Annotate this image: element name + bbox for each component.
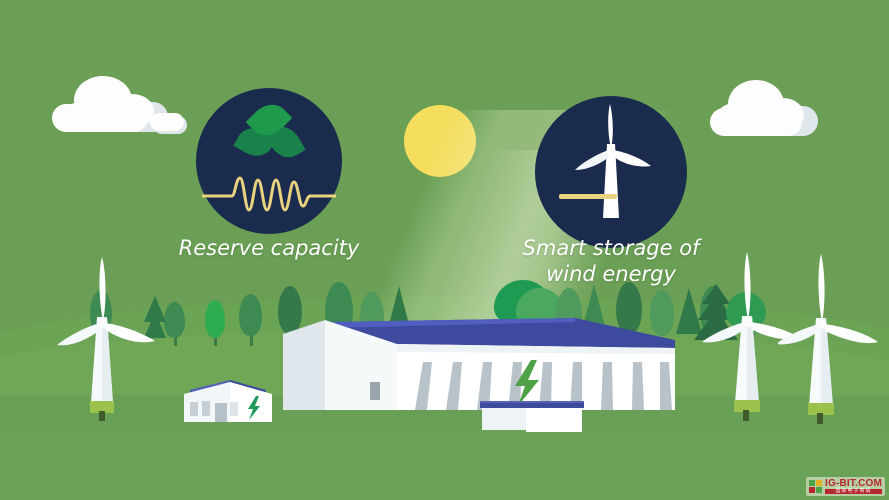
icon-circle-smart-storage[interactable] [535, 96, 687, 248]
wind-turbine-icon [535, 96, 687, 248]
house-graphic [172, 368, 282, 430]
label-smart-storage: Smart storage of wind energy [516, 236, 706, 287]
illustration-canvas: Reserve capacity Smart storage of wind e… [0, 0, 889, 500]
watermark-subtext: 国际电子商情 [825, 489, 882, 494]
platform-graphic [478, 400, 588, 436]
waveform-icon [202, 172, 336, 214]
label-reserve-capacity: Reserve capacity [169, 236, 369, 262]
wind-turbine-left[interactable] [55, 255, 175, 425]
cloud-puff [110, 94, 154, 128]
small-substation-house[interactable] [172, 368, 282, 430]
turbine-graphic [778, 250, 889, 430]
cloud-left-small [150, 113, 184, 131]
watermark-logo-icon [809, 480, 822, 493]
wind-turbine-right-front[interactable] [778, 250, 889, 430]
loading-platform [478, 400, 588, 436]
label-smart-storage-line2: wind energy [516, 262, 706, 288]
cloud-puff [762, 98, 804, 132]
cloud-puff [716, 102, 762, 134]
label-smart-storage-line1: Smart storage of [516, 236, 706, 262]
ground-foreground-lower [0, 430, 889, 500]
site-watermark: IG-BIT.COM 国际电子商情 [806, 477, 885, 496]
icon-circle-reserve-capacity[interactable] [196, 88, 342, 234]
cloud-right [708, 78, 818, 136]
turbine-graphic [55, 255, 175, 425]
